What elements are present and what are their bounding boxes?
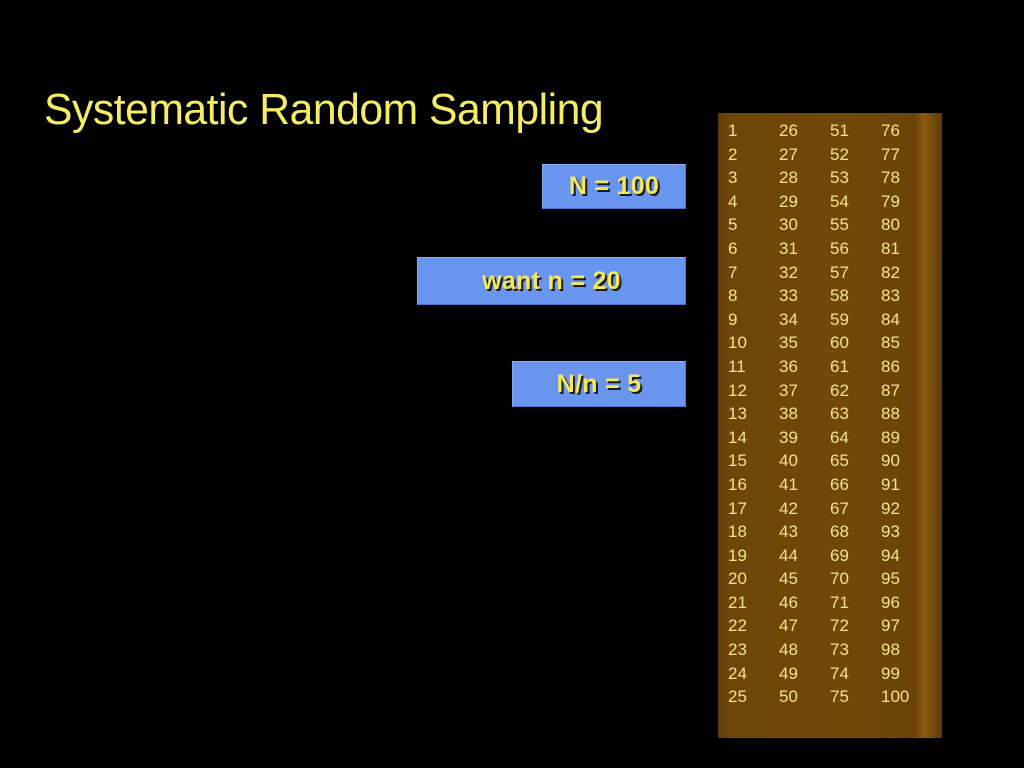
- number-cell: 18: [728, 520, 779, 544]
- number-cell: 4: [728, 190, 779, 214]
- number-cell: 82: [881, 261, 941, 285]
- number-cell: 58: [830, 284, 881, 308]
- number-cell: 96: [881, 591, 941, 615]
- number-cell: 74: [830, 662, 881, 686]
- number-cell: 86: [881, 355, 941, 379]
- number-cell: 30: [779, 213, 830, 237]
- page-title: Systematic Random Sampling: [44, 84, 603, 136]
- number-cell: 40: [779, 449, 830, 473]
- number-cell: 45: [779, 567, 830, 591]
- number-cell: 67: [830, 497, 881, 521]
- number-cell: 3: [728, 166, 779, 190]
- number-cell: 99: [881, 662, 941, 686]
- number-list-panel: 1265176227527732853784295479530558063156…: [718, 113, 942, 738]
- number-cell: 64: [830, 426, 881, 450]
- number-cell: 6: [728, 237, 779, 261]
- number-cell: 90: [881, 449, 941, 473]
- number-cell: 8: [728, 284, 779, 308]
- number-cell: 10: [728, 331, 779, 355]
- number-cell: 21: [728, 591, 779, 615]
- number-cell: 52: [830, 143, 881, 167]
- number-cell: 88: [881, 402, 941, 426]
- number-cell: 75: [830, 685, 881, 709]
- number-cell: 31: [779, 237, 830, 261]
- number-cell: 14: [728, 426, 779, 450]
- number-cell: 54: [830, 190, 881, 214]
- number-cell: 39: [779, 426, 830, 450]
- callout-label-population-size: N = 100: [569, 172, 659, 201]
- number-cell: 28: [779, 166, 830, 190]
- callout-box-sample-size[interactable]: want n = 20: [417, 257, 686, 305]
- number-cell: 35: [779, 331, 830, 355]
- number-cell: 89: [881, 426, 941, 450]
- number-cell: 60: [830, 331, 881, 355]
- number-cell: 81: [881, 237, 941, 261]
- number-cell: 79: [881, 190, 941, 214]
- number-cell: 38: [779, 402, 830, 426]
- number-cell: 53: [830, 166, 881, 190]
- number-cell: 66: [830, 473, 881, 497]
- number-cell: 32: [779, 261, 830, 285]
- number-cell: 20: [728, 567, 779, 591]
- number-cell: 27: [779, 143, 830, 167]
- number-cell: 48: [779, 638, 830, 662]
- number-cell: 100: [881, 685, 941, 709]
- number-cell: 29: [779, 190, 830, 214]
- number-cell: 12: [728, 379, 779, 403]
- number-cell: 83: [881, 284, 941, 308]
- number-cell: 19: [728, 544, 779, 568]
- number-cell: 78: [881, 166, 941, 190]
- number-cell: 37: [779, 379, 830, 403]
- number-cell: 93: [881, 520, 941, 544]
- callout-box-sampling-interval[interactable]: N/n = 5: [512, 361, 686, 407]
- number-cell: 11: [728, 355, 779, 379]
- number-cell: 50: [779, 685, 830, 709]
- slide-canvas: Systematic Random Sampling N = 100 want …: [0, 0, 1024, 768]
- number-cell: 92: [881, 497, 941, 521]
- number-cell: 59: [830, 308, 881, 332]
- number-cell: 80: [881, 213, 941, 237]
- number-cell: 26: [779, 119, 830, 143]
- number-cell: 65: [830, 449, 881, 473]
- number-cell: 2: [728, 143, 779, 167]
- number-cell: 9: [728, 308, 779, 332]
- number-cell: 70: [830, 567, 881, 591]
- callout-label-sample-size: want n = 20: [482, 267, 621, 296]
- number-cell: 97: [881, 614, 941, 638]
- number-cell: 47: [779, 614, 830, 638]
- number-cell: 95: [881, 567, 941, 591]
- number-cell: 46: [779, 591, 830, 615]
- number-cell: 24: [728, 662, 779, 686]
- number-cell: 73: [830, 638, 881, 662]
- number-cell: 33: [779, 284, 830, 308]
- number-cell: 22: [728, 614, 779, 638]
- number-cell: 76: [881, 119, 941, 143]
- number-cell: 77: [881, 143, 941, 167]
- number-cell: 69: [830, 544, 881, 568]
- number-cell: 57: [830, 261, 881, 285]
- number-cell: 1: [728, 119, 779, 143]
- number-cell: 41: [779, 473, 830, 497]
- number-cell: 94: [881, 544, 941, 568]
- number-cell: 68: [830, 520, 881, 544]
- number-cell: 56: [830, 237, 881, 261]
- number-cell: 62: [830, 379, 881, 403]
- number-grid: 1265176227527732853784295479530558063156…: [728, 119, 928, 709]
- number-cell: 36: [779, 355, 830, 379]
- number-cell: 49: [779, 662, 830, 686]
- number-cell: 34: [779, 308, 830, 332]
- number-cell: 43: [779, 520, 830, 544]
- number-cell: 84: [881, 308, 941, 332]
- number-cell: 98: [881, 638, 941, 662]
- number-cell: 7: [728, 261, 779, 285]
- number-cell: 63: [830, 402, 881, 426]
- number-cell: 44: [779, 544, 830, 568]
- number-cell: 85: [881, 331, 941, 355]
- number-cell: 25: [728, 685, 779, 709]
- callout-box-population-size[interactable]: N = 100: [542, 164, 686, 209]
- number-cell: 17: [728, 497, 779, 521]
- number-cell: 61: [830, 355, 881, 379]
- number-cell: 87: [881, 379, 941, 403]
- number-cell: 72: [830, 614, 881, 638]
- number-cell: 23: [728, 638, 779, 662]
- number-cell: 71: [830, 591, 881, 615]
- number-cell: 5: [728, 213, 779, 237]
- number-cell: 51: [830, 119, 881, 143]
- number-cell: 42: [779, 497, 830, 521]
- number-cell: 13: [728, 402, 779, 426]
- number-cell: 15: [728, 449, 779, 473]
- callout-label-sampling-interval: N/n = 5: [557, 370, 642, 399]
- number-cell: 16: [728, 473, 779, 497]
- number-cell: 55: [830, 213, 881, 237]
- number-cell: 91: [881, 473, 941, 497]
